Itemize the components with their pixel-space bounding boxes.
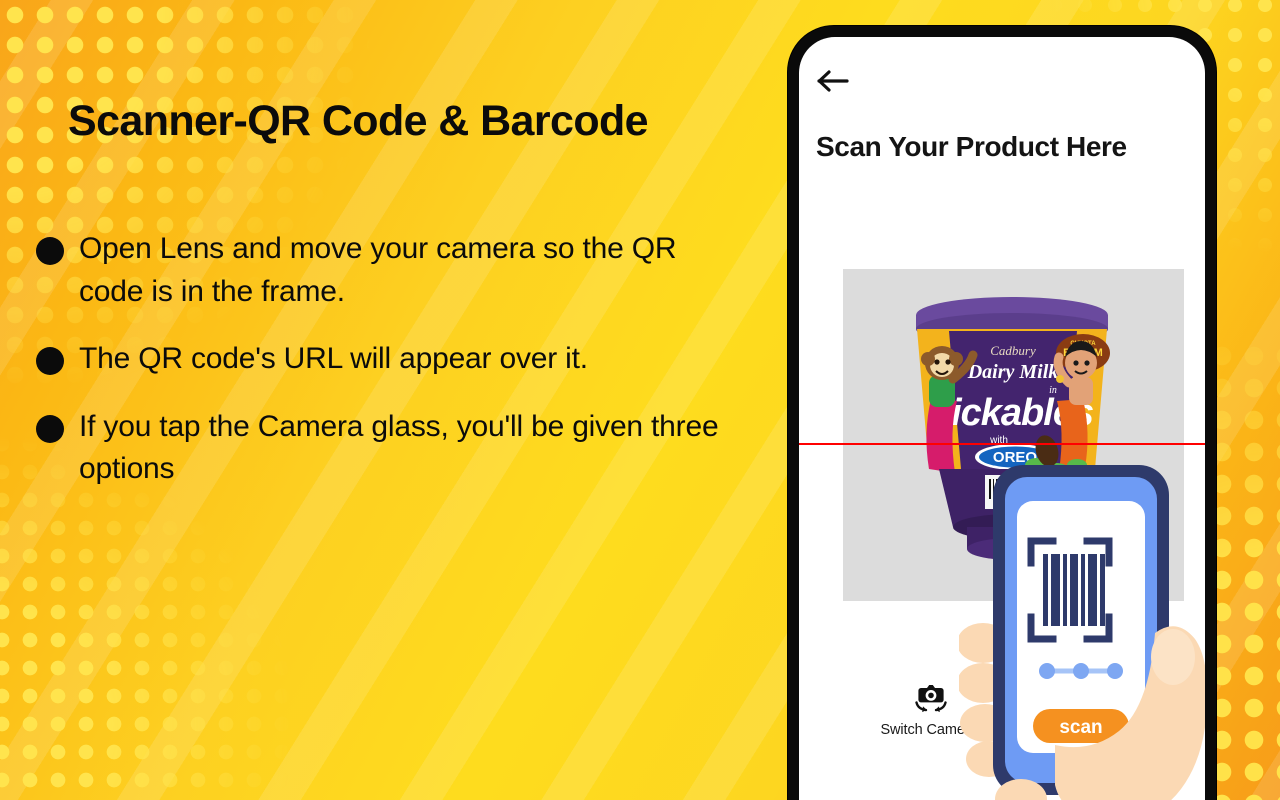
- phone-screen: Scan Your Product Here Cadbury Dairy Mil…: [799, 37, 1205, 800]
- list-item: Open Lens and move your camera so the QR…: [36, 228, 736, 313]
- progress-dots-indicator: [1039, 663, 1123, 679]
- list-item: The QR code's URL will appear over it.: [36, 338, 736, 381]
- hand-holding-phone-illustration: scan: [959, 447, 1205, 800]
- back-arrow-icon[interactable]: [816, 67, 850, 95]
- phone-mockup-frame: Scan Your Product Here Cadbury Dairy Mil…: [788, 26, 1216, 800]
- scan-line-indicator: [799, 443, 1205, 445]
- page-title: Scanner-QR Code & Barcode: [68, 97, 648, 146]
- illustration-scan-button-label: scan: [1059, 717, 1102, 738]
- bullet-text: If you tap the Camera glass, you'll be g…: [79, 406, 736, 491]
- product-brand: Cadbury: [990, 343, 1036, 358]
- feature-bullet-list: Open Lens and move your camera so the QR…: [36, 228, 736, 516]
- promo-copy-pane: Scanner-QR Code & Barcode Open Lens and …: [0, 0, 770, 800]
- bullet-text: The QR code's URL will appear over it.: [79, 338, 588, 381]
- illustration-barcode: [1043, 554, 1105, 626]
- switch-camera-icon: [909, 681, 949, 713]
- back-arrow-glyph: [816, 67, 850, 95]
- product-name-line1: Dairy Milk: [967, 361, 1059, 383]
- bullet-text: Open Lens and move your camera so the QR…: [79, 228, 736, 313]
- bullet-dot-icon: [36, 347, 64, 375]
- promo-banner: Scanner-QR Code & Barcode Open Lens and …: [0, 0, 1280, 800]
- bullet-dot-icon: [36, 415, 64, 443]
- list-item: If you tap the Camera glass, you'll be g…: [36, 406, 736, 491]
- screen-title: Scan Your Product Here: [816, 131, 1127, 163]
- bullet-dot-icon: [36, 237, 64, 265]
